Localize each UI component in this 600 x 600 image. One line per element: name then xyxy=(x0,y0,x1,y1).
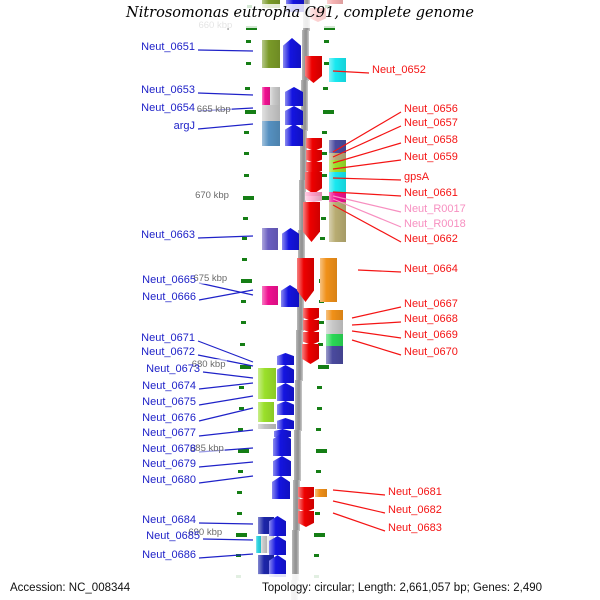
leader-line-right xyxy=(352,307,401,318)
gene-label-right[interactable]: Neut_0667 xyxy=(404,298,458,310)
gene-label-right[interactable]: gpsA xyxy=(404,171,429,183)
leader-line-left xyxy=(199,283,253,295)
leader-line-right xyxy=(358,270,401,272)
leader-line-right xyxy=(333,178,401,180)
leader-line-left xyxy=(199,523,253,524)
gene-label-left[interactable]: Neut_0678 xyxy=(0,443,196,455)
leader-line-left xyxy=(199,430,253,436)
gene-label-right[interactable]: Neut_0668 xyxy=(404,313,458,325)
gene-label-right[interactable]: Neut_0670 xyxy=(404,346,458,358)
gene-label-left[interactable]: Neut_0675 xyxy=(0,396,196,408)
gene-label-left[interactable]: Neut_0672 xyxy=(0,346,195,358)
gene-label-right[interactable]: Neut_0652 xyxy=(372,64,426,76)
leader-line-left xyxy=(199,290,253,300)
gene-label-right[interactable]: Neut_0681 xyxy=(388,486,442,498)
leader-line-left xyxy=(203,539,253,540)
ruler-position-label: 675 kbp xyxy=(192,273,228,284)
gene-label-left[interactable]: Neut_0677 xyxy=(0,427,196,439)
leader-line-right xyxy=(333,160,401,169)
gene-label-right[interactable]: Neut_0658 xyxy=(404,134,458,146)
gene-label-rna[interactable]: Neut_R0018 xyxy=(404,218,466,230)
gene-label-right[interactable]: Neut_0657 xyxy=(404,117,458,129)
leader-line-left xyxy=(199,554,253,558)
gene-label-right[interactable]: Neut_0682 xyxy=(388,504,442,516)
topology-text: Topology: circular; Length: 2,661,057 bp… xyxy=(262,582,542,594)
ruler-position-label: 670 kbp xyxy=(194,190,230,201)
page-title: Nitrosomonas eutropha C91, complete geno… xyxy=(0,5,600,21)
gene-label-left[interactable]: Neut_0680 xyxy=(0,474,196,486)
gene-label-left[interactable]: Neut_0666 xyxy=(0,291,196,303)
gene-label-left[interactable]: Neut_0654 xyxy=(0,102,195,114)
genome-viewer: Neut_0651Neut_0653Neut_0654argJNeut_0663… xyxy=(0,0,600,600)
gene-label-rna[interactable]: Neut_R0017 xyxy=(404,203,466,215)
leader-line-right xyxy=(333,126,401,157)
leader-line-left xyxy=(198,93,253,95)
gene-label-left[interactable]: Neut_0665 xyxy=(0,274,196,286)
leader-line-right xyxy=(333,513,385,531)
gene-label-left[interactable]: Neut_0676 xyxy=(0,412,196,424)
gene-label-left[interactable]: Neut_0685 xyxy=(0,530,200,542)
leader-line-right xyxy=(333,205,401,242)
gene-label-right[interactable]: Neut_0659 xyxy=(404,151,458,163)
gene-label-right[interactable]: Neut_0656 xyxy=(404,103,458,115)
gene-label-left[interactable]: Neut_0674 xyxy=(0,380,196,392)
leader-line-left xyxy=(198,50,253,51)
gene-label-left[interactable]: Neut_0679 xyxy=(0,458,196,470)
gene-label-left[interactable]: argJ xyxy=(0,120,195,132)
leader-line-right xyxy=(333,490,385,495)
accession-text: Accession: NC_008344 xyxy=(10,582,130,594)
ruler-position-label: 665 kbp xyxy=(196,104,232,115)
leader-line-left xyxy=(203,372,253,378)
leader-line-left xyxy=(199,396,253,405)
gene-label-right[interactable]: Neut_0664 xyxy=(404,263,458,275)
leader-line-left xyxy=(199,383,253,389)
gene-label-left[interactable]: Neut_0651 xyxy=(0,41,195,53)
leader-line-rna xyxy=(333,199,401,227)
leader-line-right xyxy=(352,331,401,338)
gene-label-left[interactable]: Neut_0673 xyxy=(0,363,200,375)
leader-line-left xyxy=(198,236,253,238)
gene-label-left[interactable]: Neut_0684 xyxy=(0,514,196,526)
gene-label-left[interactable]: Neut_0686 xyxy=(0,549,196,561)
leader-line-left xyxy=(199,408,253,421)
gene-label-right[interactable]: Neut_0661 xyxy=(404,187,458,199)
leader-line-right xyxy=(352,340,401,355)
leader-line-right xyxy=(333,501,385,513)
leader-line-left xyxy=(199,476,253,483)
leader-line-left xyxy=(198,124,253,129)
leader-line-left xyxy=(199,462,253,467)
leader-line-right xyxy=(333,71,369,73)
leader-line-right xyxy=(333,192,401,196)
leader-line-right xyxy=(352,322,401,325)
gene-label-left[interactable]: Neut_0653 xyxy=(0,84,195,96)
gene-label-right[interactable]: Neut_0662 xyxy=(404,233,458,245)
leader-line-rna xyxy=(333,196,401,212)
gene-label-right[interactable]: Neut_0669 xyxy=(404,329,458,341)
gene-label-left[interactable]: Neut_0671 xyxy=(0,332,195,344)
gene-label-right[interactable]: Neut_0683 xyxy=(388,522,442,534)
gene-label-left[interactable]: Neut_0663 xyxy=(0,229,195,241)
